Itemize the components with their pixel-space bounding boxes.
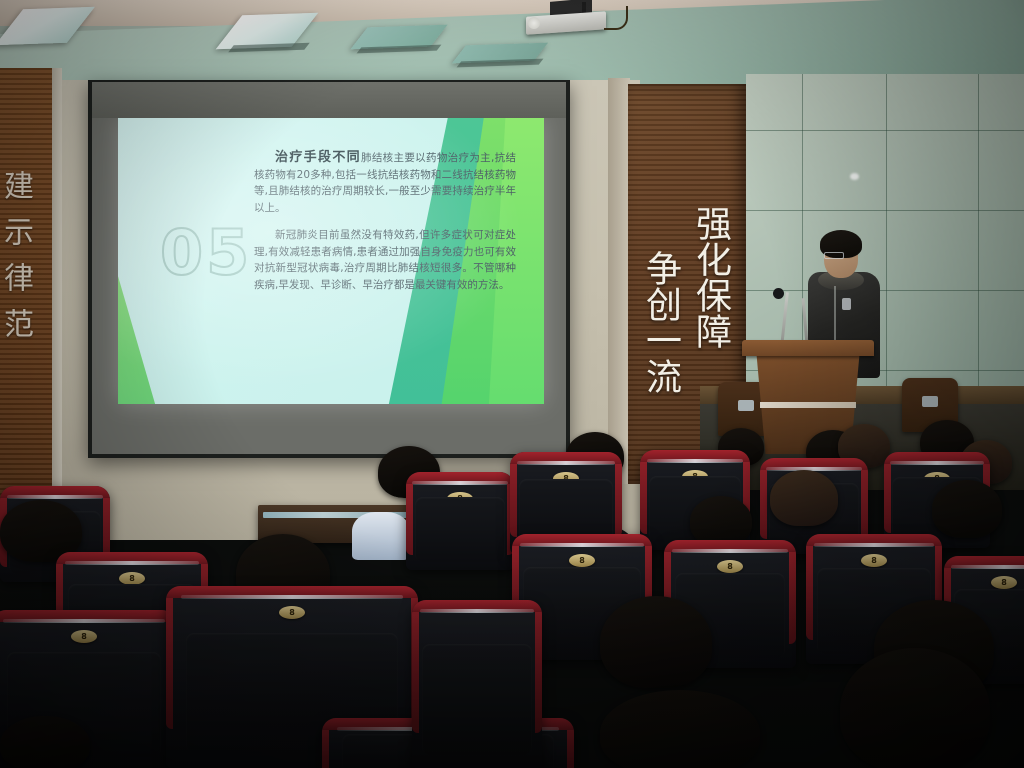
auditorium-seat[interactable] <box>412 600 542 768</box>
seat-chrome-trim <box>517 461 616 465</box>
seat-chrome-trim <box>3 619 165 623</box>
projector-cable <box>604 6 628 30</box>
seat-number-plate: 8 <box>991 576 1017 589</box>
seat-side-panel <box>760 470 767 539</box>
slide-paragraph-1: 治疗手段不同肺结核主要以药物治疗为主,抗结核药物有20多种,包括一线抗结核药物和… <box>254 150 516 216</box>
wall-light-reflection <box>850 173 859 180</box>
seat-chrome-trim <box>814 543 934 547</box>
audience-head <box>932 480 1002 538</box>
stage-chair-plate <box>922 396 938 407</box>
speaker-jacket-logo <box>842 298 851 310</box>
speaker-glasses-icon <box>824 252 844 259</box>
seat-chrome-trim <box>181 595 403 599</box>
audience-shoulders <box>352 512 410 560</box>
slide-body-text: 治疗手段不同肺结核主要以药物治疗为主,抗结核药物有20多种,包括一线抗结核药物和… <box>254 150 516 304</box>
seat-chrome-trim <box>672 549 788 553</box>
slide-paragraph-2: 新冠肺炎目前虽然没有特效药,但许多症状可对症处理,有效减轻患者病情,患者通过加强… <box>254 227 516 293</box>
audience-head <box>600 690 760 768</box>
seat-number-plate: 8 <box>119 572 145 585</box>
seat-number-plate: 8 <box>279 606 305 619</box>
seat-side-panel <box>806 546 813 640</box>
slide-number: 05 <box>160 216 252 289</box>
seat-side-panel <box>789 552 796 644</box>
seat-chrome-trim <box>65 561 199 565</box>
seat-chrome-trim <box>951 565 1024 569</box>
seat-chrome-trim <box>420 609 534 613</box>
seat-side-panel <box>510 464 517 537</box>
seat-chrome-trim <box>520 543 643 547</box>
lecture-hall-photo: 建示律范 强化保障 争创一流 05 治疗手段不同肺结核主要以药物治疗为主,抗结核… <box>0 0 1024 768</box>
seat-side-panel <box>406 484 413 555</box>
seat-side-panel <box>567 730 574 768</box>
audience-head <box>690 496 752 546</box>
seat-side-panel <box>412 612 419 733</box>
audience-head <box>770 470 838 526</box>
slide-lead-heading: 治疗手段不同 <box>275 150 361 165</box>
projector-lens-icon <box>528 17 540 29</box>
slogan-left-column: 争创一流 <box>634 222 688 422</box>
podium-light-strip <box>760 402 856 408</box>
seat-side-panel <box>640 462 647 534</box>
audience-head <box>840 648 990 768</box>
seat-side-panel <box>861 470 868 539</box>
presentation-slide: 05 治疗手段不同肺结核主要以药物治疗为主,抗结核药物有20多种,包括一线抗结核… <box>118 118 544 404</box>
seat-back-cushion <box>422 644 531 755</box>
seat-side-panel <box>615 464 622 537</box>
seat-chrome-trim <box>7 495 104 499</box>
seat-number-plate: 8 <box>861 554 887 567</box>
slide-shape-green-left <box>118 214 158 404</box>
seat-number-plate: 8 <box>569 554 595 567</box>
seat-chrome-trim <box>412 481 507 485</box>
audience-head <box>0 716 90 768</box>
seat-number-plate: 8 <box>717 560 743 573</box>
seat-side-panel <box>322 730 329 768</box>
seat-chrome-trim <box>647 459 744 463</box>
microphone-head-icon <box>773 288 784 299</box>
projection-screen: 05 治疗手段不同肺结核主要以药物治疗为主,抗结核药物有20多种,包括一线抗结核… <box>92 84 566 454</box>
left-wall-edge <box>52 68 62 536</box>
audience-head <box>600 596 712 688</box>
projector <box>520 0 616 34</box>
podium-top <box>742 340 874 356</box>
auditorium-seat[interactable]: 8 <box>406 472 514 570</box>
column-side-strip <box>608 78 630 484</box>
slogan-right-column: 强化保障 <box>684 132 738 422</box>
seat-side-panel <box>535 612 542 733</box>
screen-valance <box>92 82 566 118</box>
speaker-zipper <box>834 286 836 348</box>
seat-side-panel <box>884 464 891 533</box>
seat-chrome-trim <box>890 461 983 465</box>
seat-side-panel <box>166 598 173 729</box>
seat-back-cushion <box>415 497 506 562</box>
seat-number-plate: 8 <box>71 630 97 643</box>
left-panel-text: 建示律范 <box>2 170 46 354</box>
